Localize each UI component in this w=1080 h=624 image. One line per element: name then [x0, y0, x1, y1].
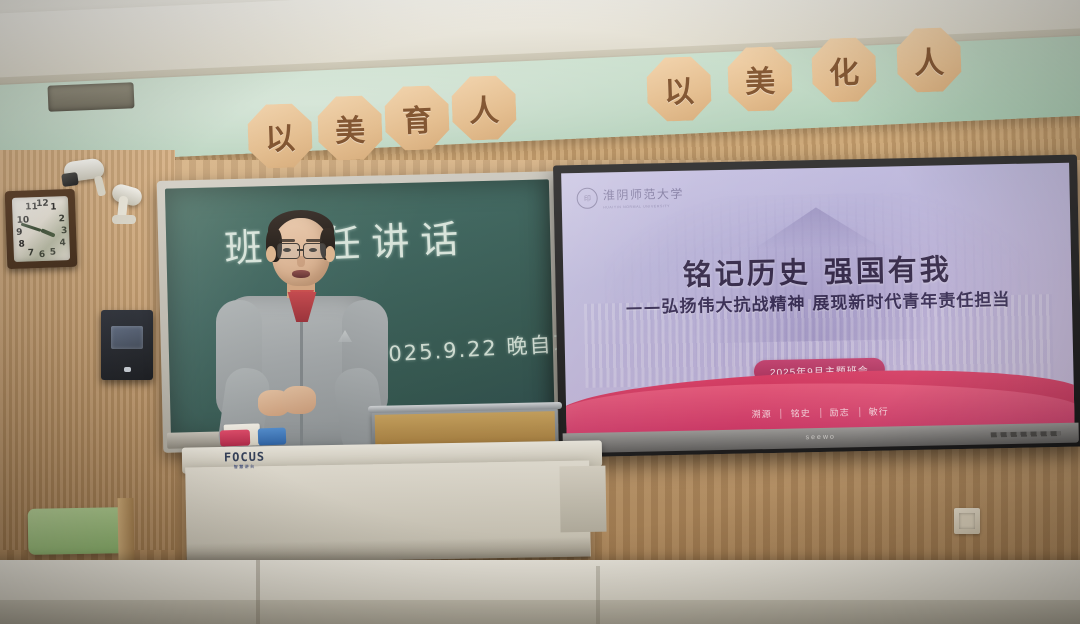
lectern-side-cabinet	[559, 466, 606, 533]
ceiling-vent	[47, 82, 134, 112]
chair-post	[117, 498, 134, 562]
lectern-brand-text: FOCUS	[224, 450, 265, 465]
blue-marker[interactable]	[258, 428, 287, 446]
speaker-mouth	[292, 270, 310, 278]
speaker-glasses-left-lens	[277, 243, 300, 259]
plaque-right-1-char: 以	[663, 66, 695, 111]
speaker-brow-right	[306, 239, 322, 242]
wall-control-panel[interactable]	[101, 310, 153, 380]
red-marker[interactable]	[220, 429, 251, 446]
wall-outlet-face	[959, 513, 975, 529]
plaque-left-2-char: 美	[334, 105, 366, 150]
plaque-right-3-char: 化	[828, 47, 860, 92]
desk-seam-2	[596, 566, 600, 624]
tv-brand-label: seewo	[806, 434, 836, 442]
speaker-ear-left	[266, 246, 276, 262]
slide-nav-divider-3	[859, 407, 860, 417]
lectern-brand: FOCUS 智慧讲台	[224, 450, 265, 471]
wall-clock: 12 1 2 3 4 5 6 7 8 9 10 11	[5, 189, 78, 269]
plaque-right-2-char: 美	[744, 56, 776, 101]
slide-nav-item-1: 溯源	[752, 407, 772, 420]
tv-screen[interactable]: 印 淮阴师范大学 HUAIYIN NORMAL UNIVERSITY 铭记历史 …	[561, 163, 1074, 436]
desk-front-panel	[0, 600, 1080, 624]
slide-nav-item-2: 铭史	[791, 407, 811, 420]
classroom-photo: 以 美 育 人 以 美 化 人 12 1 2 3 4 5 6 7 8 9 10	[0, 0, 1080, 624]
cctv-camera-lens-icon	[61, 172, 79, 187]
slide-nav-item-4: 敏行	[869, 405, 889, 418]
plaque-left-1-char: 以	[264, 113, 296, 158]
slide-nav-divider-1	[781, 409, 782, 419]
panel-led-icon	[124, 367, 131, 372]
speaker-hand-right	[282, 386, 316, 414]
plaque-left-4-char: 人	[468, 85, 500, 130]
student-chair[interactable]	[28, 507, 127, 555]
university-logo: 印 淮阴师范大学 HUAIYIN NORMAL UNIVERSITY	[577, 185, 684, 210]
speaker-nose	[297, 256, 305, 267]
ceiling-camera-base	[112, 215, 136, 224]
panel-screen	[111, 326, 143, 349]
speaker-glasses-bridge	[297, 249, 304, 251]
clock-glass-reflection	[12, 196, 70, 262]
smart-tv[interactable]: 印 淮阴师范大学 HUAIYIN NORMAL UNIVERSITY 铭记历史 …	[553, 155, 1080, 458]
speaker-glasses-right-lens	[303, 243, 326, 259]
university-seal-icon: 印	[577, 188, 598, 209]
speaker-ear-right	[325, 246, 335, 262]
slide-nav-divider-2	[820, 408, 821, 418]
wall-outlet[interactable]	[954, 508, 980, 534]
plaque-right-4-char: 人	[913, 37, 945, 82]
presentation-slide: 印 淮阴师范大学 HUAIYIN NORMAL UNIVERSITY 铭记历史 …	[561, 163, 1074, 436]
slide-nav-item-3: 励志	[830, 406, 850, 419]
desk-seam-1	[256, 560, 260, 624]
university-name: 淮阴师范大学	[603, 187, 684, 203]
plaque-left-3-char: 育	[401, 95, 433, 140]
speaker-brow-left	[279, 239, 295, 242]
laptop-lid-inner	[375, 411, 556, 445]
lectern-brand-sub: 智慧讲台	[224, 464, 265, 471]
